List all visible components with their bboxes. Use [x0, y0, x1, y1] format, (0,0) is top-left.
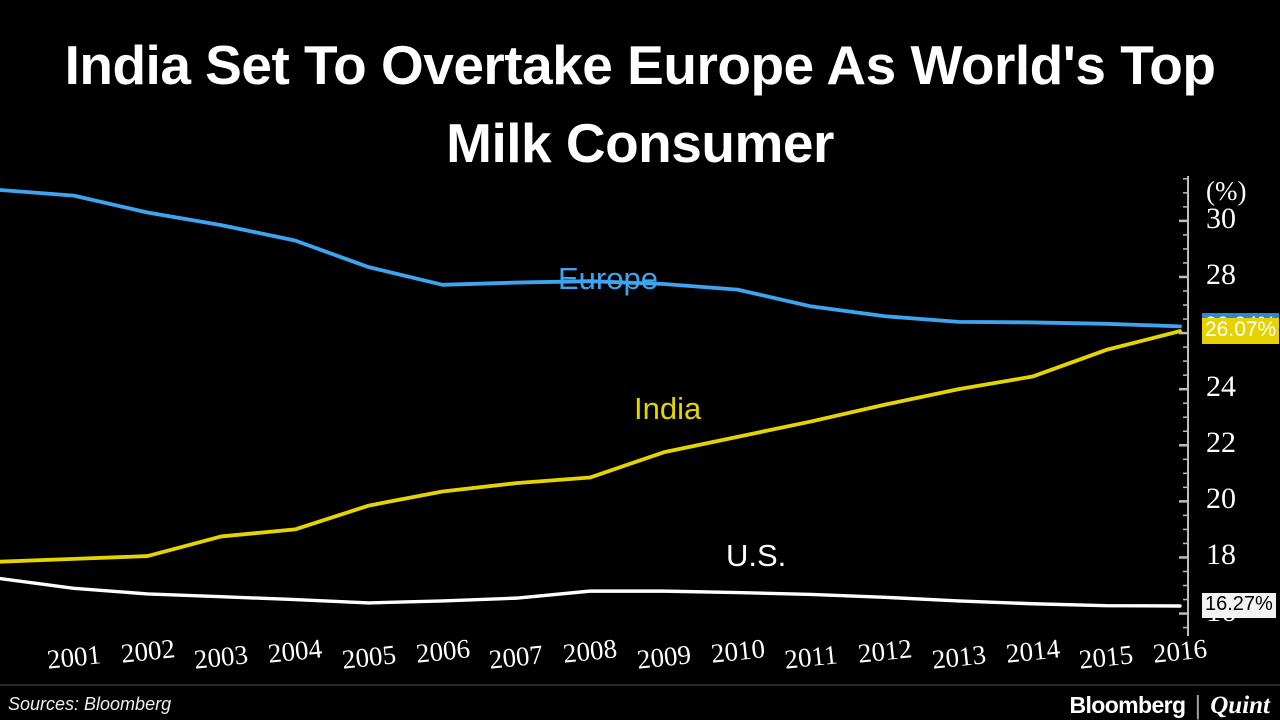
sources-note: Sources: Bloomberg: [8, 694, 171, 715]
page-title: India Set To Overtake Europe As World's …: [0, 26, 1280, 182]
x-tick-label-2006: 2006: [414, 633, 471, 669]
y-tick-label-22: 22: [1206, 428, 1236, 458]
y-tick-label-28: 28: [1206, 260, 1236, 290]
x-tick-label-2008: 2008: [562, 633, 619, 669]
brand-separator: |: [1194, 690, 1201, 720]
x-tick-label-2005: 2005: [340, 639, 397, 675]
brand-bloomberg-text: Bloomberg: [1069, 692, 1185, 719]
x-tick-label-2004: 2004: [267, 633, 324, 669]
x-tick-label-2011: 2011: [783, 639, 839, 675]
brand-logo: Bloomberg | Quint: [1069, 690, 1270, 720]
series-line-india: [0, 331, 1180, 562]
brand-quint-text: Quint: [1210, 692, 1270, 720]
series-label-india: India: [634, 391, 701, 427]
x-tick-label-2007: 2007: [488, 639, 545, 675]
footer-divider: [0, 684, 1280, 686]
series-line-europe: [0, 190, 1180, 326]
value-callout-us: 16.27%: [1202, 593, 1276, 618]
chart-page: India Set To Overtake Europe As World's …: [0, 0, 1280, 720]
x-tick-label-2001: 2001: [45, 639, 102, 675]
x-tick-label-2014: 2014: [1004, 633, 1061, 669]
series-layer: [0, 190, 1180, 606]
x-tick-label-2009: 2009: [635, 639, 692, 675]
axis-layer: [0, 176, 1188, 636]
x-tick-label-2015: 2015: [1078, 639, 1135, 675]
x-tick-label-2016: 2016: [1152, 633, 1209, 669]
x-tick-label-2013: 2013: [930, 639, 987, 675]
x-tick-label-2002: 2002: [119, 633, 176, 669]
x-tick-label-2010: 2010: [709, 633, 766, 669]
y-tick-label-30: 30: [1206, 204, 1236, 234]
y-tick-label-24: 24: [1206, 372, 1236, 402]
x-axis-tick-labels: 2001200220032004200520062007200820092010…: [0, 634, 1280, 684]
series-line-us: [0, 579, 1180, 606]
x-tick-label-2012: 2012: [857, 633, 914, 669]
series-label-us: U.S.: [726, 538, 786, 574]
value-callout-india: 26.07%: [1202, 318, 1279, 344]
y-tick-label-20: 20: [1206, 484, 1236, 514]
series-label-europe: Europe: [558, 261, 658, 297]
y-tick-label-18: 18: [1206, 540, 1236, 570]
x-tick-label-2003: 2003: [193, 639, 250, 675]
